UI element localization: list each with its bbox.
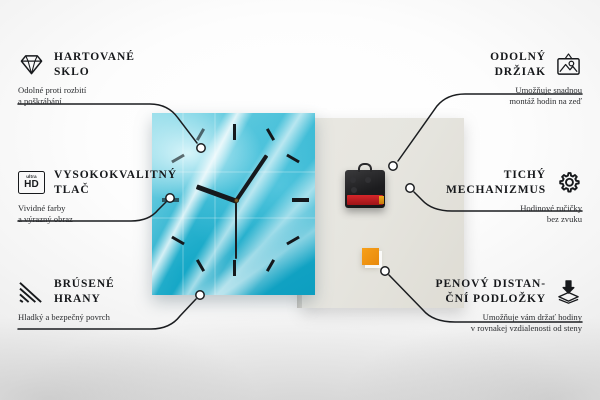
feature-tempered-glass: HARTOVANÉ SKLO Odolné proti rozbití a po… — [18, 50, 193, 108]
feature-header: BRÚSENÉ HRANY — [18, 277, 203, 306]
feature-title: BRÚSENÉ HRANY — [54, 277, 115, 306]
stacked-layers-arrow-icon — [555, 279, 582, 304]
feature-description: Umožňuje snadnou montáž hodin na zeď — [392, 85, 582, 108]
feature-description: Hodinové ručičky bez zvuku — [382, 203, 582, 226]
diagonal-lines-icon — [18, 279, 45, 304]
feature-title: PENOVÝ DISTAN- ČNÍ PODLOŽKY — [436, 277, 546, 306]
feature-title: VYSOKOKVALITNÝ TLAČ — [54, 168, 177, 197]
movement-battery — [347, 195, 383, 205]
feature-description: Umožňuje vám držať hodiny v rovnakej vzd… — [342, 312, 582, 335]
hour-tick-3 — [292, 198, 309, 202]
feature-description: Vividné farby a výrazný obraz — [18, 203, 198, 226]
feature-title: HARTOVANÉ SKLO — [54, 50, 135, 79]
picture-frame-icon — [555, 52, 582, 77]
feature-header: TICHÝ MECHANIZMUS — [382, 168, 582, 197]
hour-tick-6 — [233, 260, 236, 276]
feature-silent-mechanism: TICHÝ MECHANIZMUS Hodinové ručičky bez z… — [382, 168, 582, 226]
feature-header: HARTOVANÉ SKLO — [18, 50, 193, 79]
feature-header: ODOLNÝ DRŽIAK — [392, 50, 582, 79]
feature-durable-holder: ODOLNÝ DRŽIAK Umožňuje snadnou montáž ho… — [392, 50, 582, 108]
movement-hanging-hook — [358, 163, 372, 172]
gear-icon — [555, 170, 582, 195]
movement-dial-3 — [351, 187, 357, 193]
feature-title: TICHÝ MECHANIZMUS — [446, 168, 546, 197]
pane-line-v2 — [214, 113, 216, 295]
feature-high-quality-print: ultra HD VYSOKOKVALITNÝ TLAČ Vividné far… — [18, 168, 198, 226]
hd-main-label: HD — [24, 180, 39, 190]
feature-foam-spacers: PENOVÝ DISTAN- ČNÍ PODLOŽKY Umožňuje vám… — [342, 277, 582, 335]
feature-header: ultra HD VYSOKOKVALITNÝ TLAČ — [18, 168, 198, 197]
diamond-icon — [18, 52, 45, 77]
feature-header: PENOVÝ DISTAN- ČNÍ PODLOŽKY — [342, 277, 582, 306]
feature-title: ODOLNÝ DRŽIAK — [490, 50, 546, 79]
clock-movement-box — [345, 170, 385, 208]
second-hand — [235, 199, 237, 259]
movement-dial-2 — [365, 177, 371, 183]
hour-tick-12 — [233, 124, 236, 140]
infographic-canvas: HARTOVANÉ SKLO Odolné proti rozbití a po… — [0, 0, 600, 400]
feature-description: Hladký a bezpečný povrch — [18, 312, 203, 323]
feature-description: Odolné proti rozbití a poškrábání — [18, 85, 193, 108]
movement-dial-1 — [350, 177, 356, 183]
hand-center-cap — [234, 198, 239, 203]
ultra-hd-icon: ultra HD — [18, 171, 45, 194]
foam-spacer-pad — [362, 248, 379, 265]
feature-polished-edges: BRÚSENÉ HRANY Hladký a bezpečný povrch — [18, 277, 203, 323]
